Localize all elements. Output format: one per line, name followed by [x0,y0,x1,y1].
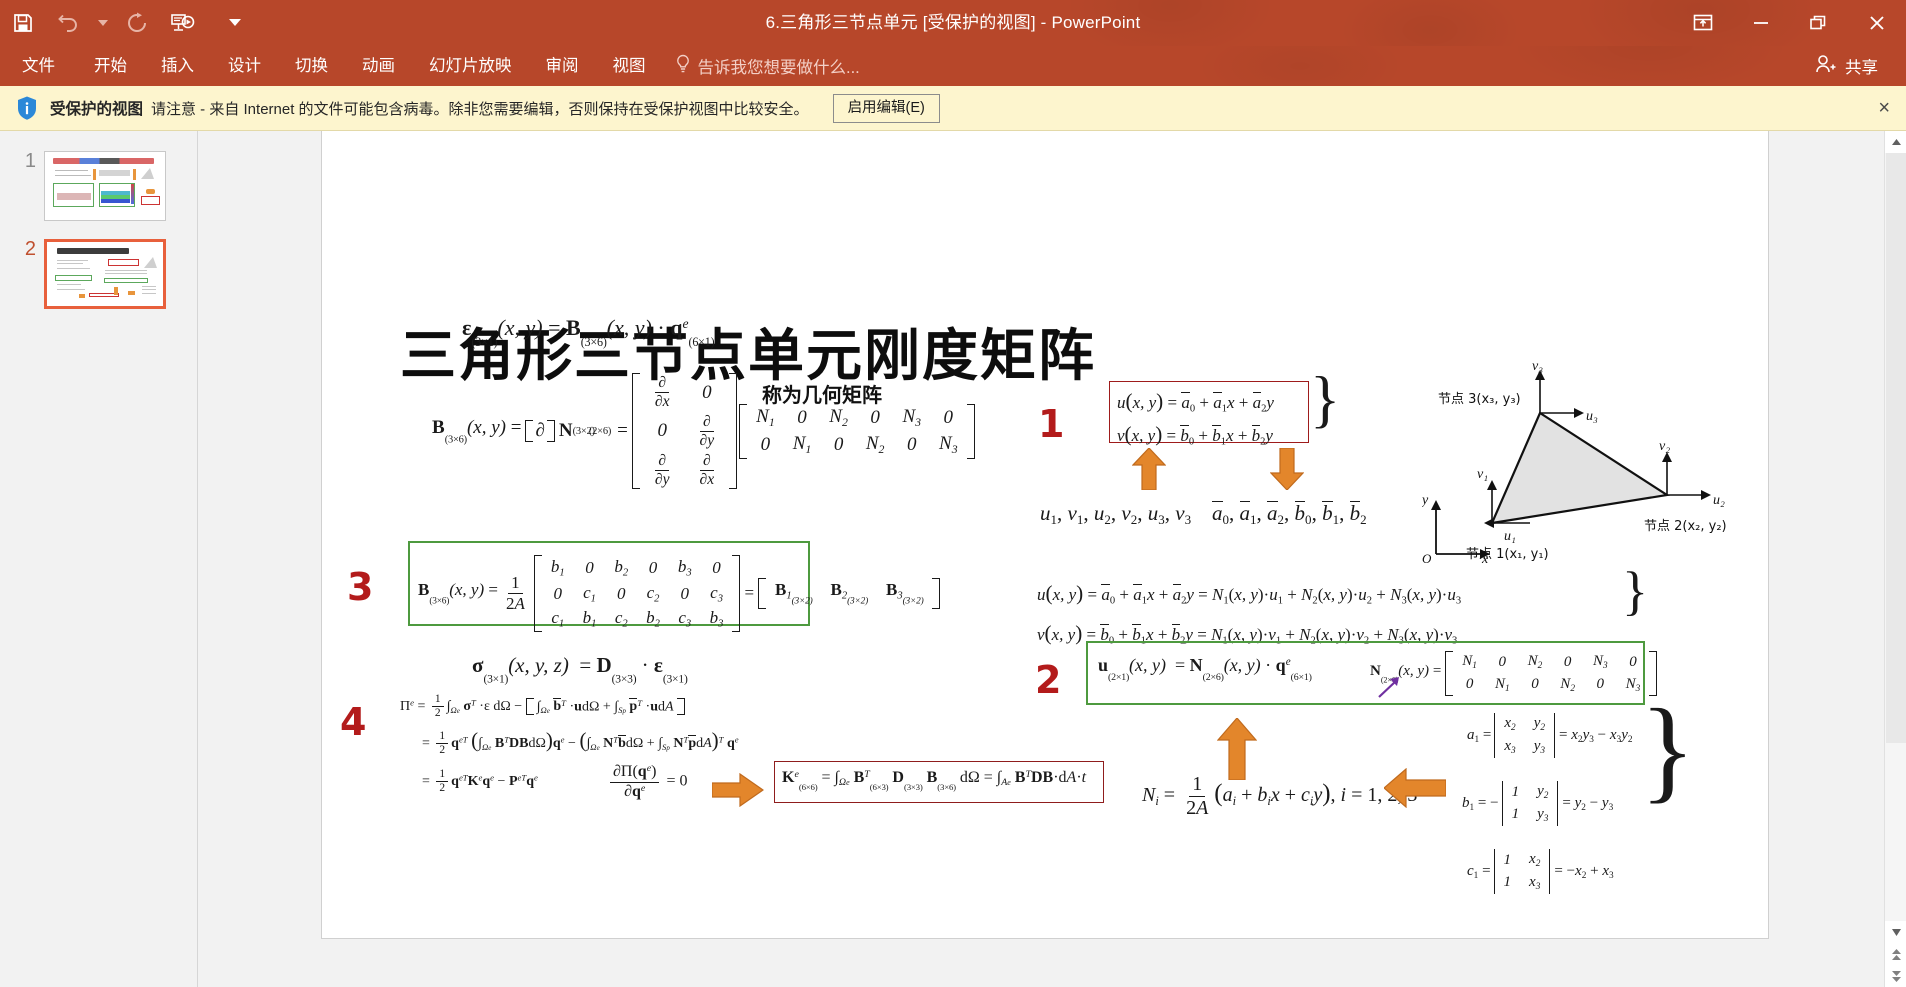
displacement-matrix-equation: u(2×1)(x, y) = N(2×6)(x, y) · qe(6×1) [1098,655,1312,683]
save-icon[interactable] [0,0,46,46]
protected-view-message: 请注意 - 来自 Internet 的文件可能包含病毒。除非您需要编辑，否则保持… [151,98,809,119]
share-button[interactable]: 共享 [1801,46,1892,86]
stationarity-condition: ∂Π(qe)∂qe = 0 [607,763,687,801]
svg-text:节点 3(x₃, y₃): 节点 3(x₃, y₃) [1438,392,1521,407]
coefficient-a1-definition: a1 = x2y2 x3y3 = x2y3 − x3y2 [1467,713,1633,758]
ribbon-display-options-icon[interactable] [1674,0,1732,46]
svg-text:u₂: u₂ [1713,493,1725,508]
svg-text:v₂: v₂ [1659,439,1670,454]
thumbnail-number: 2 [10,239,36,259]
strain-displacement-equation: ε(3×1)(x, y) = B(3×6)(x, y) · qe(6×1) [462,315,714,350]
tab-slideshow[interactable]: 幻灯片放映 [412,46,529,86]
geometry-matrix-definition: B(3×6)(x, y) = ∂ N(3×2)(2×6) = ∂∂x0 0∂∂y… [432,373,975,489]
orange-arrow-left-1 [1384,768,1446,813]
tab-animations[interactable]: 动画 [345,46,412,86]
element-stiffness-equation: Ke(6×6) = ∫Ωe BT(6×3) D(3×3) B(3×6) dΩ =… [782,769,1086,792]
undo-icon[interactable] [46,0,92,46]
coefficient-c1-definition: c1 = 1x2 1x3 = −x2 + x3 [1467,849,1614,894]
protected-view-badge: 受保护的视图 [50,97,143,119]
tab-file[interactable]: 文件 [0,46,77,86]
svg-text:y: y [1422,493,1429,508]
right-brace-1: } [1310,381,1340,419]
window-controls [1674,0,1906,46]
share-label: 共享 [1845,54,1878,78]
step-number-1: 1 [1038,405,1064,443]
close-icon[interactable] [1848,0,1906,46]
step-number-4: 4 [340,703,366,741]
right-brace-2: } [1622,575,1648,608]
ribbon-tab-bar: 文件 开始 插入 设计 切换 动画 幻灯片放映 审阅 视图 告诉我您想要做什么.… [0,46,1906,86]
redo-icon[interactable] [114,0,160,46]
geometry-matrix-note: 称为几何矩阵 [762,379,882,408]
person-add-icon [1815,54,1837,79]
orange-arrow-up-2 [1217,718,1257,785]
lightbulb-icon [675,54,691,79]
potential-energy-line-2: = 12qeT (∫Ωe BTDBdΩ)qe − (∫Ωe NTbdΩ + ∫S… [422,728,739,757]
quick-access-toolbar [0,0,246,46]
svg-text:u₁: u₁ [1504,529,1516,544]
scroll-up-button[interactable] [1885,131,1906,153]
svg-text:v₁: v₁ [1477,467,1488,482]
scroll-thumb[interactable] [1886,153,1906,743]
slide-editing-area[interactable]: 三角形三节点单元刚度矩阵 ε(3×1)(x, y) = B(3×6)(x, y)… [198,131,1848,987]
title-bar: 6.三角形三节点单元 [受保护的视图] - PowerPoint [0,0,1906,46]
close-bar-icon[interactable]: × [1872,94,1896,122]
previous-slide-button[interactable] [1885,943,1906,965]
purple-pointer-arrow [1377,675,1403,704]
shape-function-formula: Ni = 12A(ai + bix + ciy), i = 1, 2, 3 [1142,773,1417,820]
restore-icon[interactable] [1790,0,1848,46]
next-slide-button[interactable] [1885,965,1906,987]
svg-text:节点 1(x₁, y₁): 节点 1(x₁, y₁) [1466,547,1549,562]
scroll-down-button[interactable] [1885,921,1906,943]
tab-review[interactable]: 审阅 [529,46,596,86]
stress-strain-equation: σ(3×1)(x, y, z) = D(3×3) · ε(3×1) [472,653,688,685]
minimize-icon[interactable] [1732,0,1790,46]
svg-text:O: O [1422,551,1432,563]
thumbnail-slide-2[interactable]: 2 [10,239,166,309]
slide-thumbnail-pane[interactable]: 1 2 [0,131,198,987]
thumbnail-slide-1[interactable]: 1 [10,151,166,221]
nodal-dof-list: u1, v1, u2, v2, u3, v3 [1040,501,1191,528]
undo-dropdown-icon[interactable] [92,0,114,46]
tab-design[interactable]: 设计 [211,46,278,86]
step-number-2: 2 [1035,661,1061,699]
b-matrix-equation: B(3×6)(x, y) = 12A b10b20b30 0c10c20c3 c… [418,555,940,632]
tab-home[interactable]: 开始 [77,46,144,86]
customize-qat-icon[interactable] [224,0,246,46]
thumbnail-preview[interactable] [44,151,166,221]
shape-function-matrix: N(2×6)(x, y) = N10N20N30 0N10N20N3 [1370,651,1657,696]
orange-arrow-right-1 [712,773,764,812]
svg-text:v₃: v₃ [1532,359,1543,374]
potential-energy-line-3: = 12qeTKeqe − PeTqe [422,768,538,795]
start-slideshow-icon[interactable] [160,0,206,46]
coefficient-b1-definition: b1 = − 1y2 1y3 = y2 − y3 [1462,781,1613,826]
tab-transitions[interactable]: 切换 [278,46,345,86]
enable-editing-button[interactable]: 启用编辑(E) [833,94,940,123]
svg-text:节点 2(x₂, y₂): 节点 2(x₂, y₂) [1644,519,1727,534]
tell-me-box[interactable]: 告诉我您想要做什么... [675,46,860,86]
vertical-scrollbar[interactable] [1884,131,1906,987]
right-brace-3: } [1640,715,1695,784]
tab-insert[interactable]: 插入 [144,46,211,86]
step-number-3: 3 [347,568,373,606]
orange-arrow-down-1 [1270,448,1304,495]
scroll-bottom-controls[interactable] [1885,921,1906,987]
window-title: 6.三角形三节点单元 [受保护的视图] - PowerPoint [0,0,1906,46]
scroll-track[interactable] [1885,153,1906,921]
thumbnail-preview[interactable] [44,239,166,309]
tell-me-text: 告诉我您想要做什么... [698,54,860,78]
triangle-element-diagram: y x O v₃ u₃ v₂ u₂ v₁ u₁ 节点 3(x₃, y₃) 节点 … [1422,358,1752,563]
protected-view-bar: 受保护的视图 请注意 - 来自 Internet 的文件可能包含病毒。除非您需要… [0,86,1906,131]
potential-energy-line-1: Πe = 12∫Ωe σT ·ε dΩ − ∫Ωe bT ·udΩ + ∫Sp … [400,693,685,720]
polynomial-coefficient-list: a0, a1, a2, b0, b1, b2 [1212,501,1367,528]
thumbnail-number: 1 [10,151,36,171]
orange-arrow-up-1 [1132,448,1166,495]
svg-text:u₃: u₃ [1586,409,1598,424]
displacement-polynomial-equations: u(x, y) = a0 + a1x + a2y v(x, y) = b0 + … [1117,385,1274,451]
shield-info-icon [16,95,38,121]
tab-view[interactable]: 视图 [596,46,663,86]
slide-canvas[interactable]: 三角形三节点单元刚度矩阵 ε(3×1)(x, y) = B(3×6)(x, y)… [321,131,1769,939]
